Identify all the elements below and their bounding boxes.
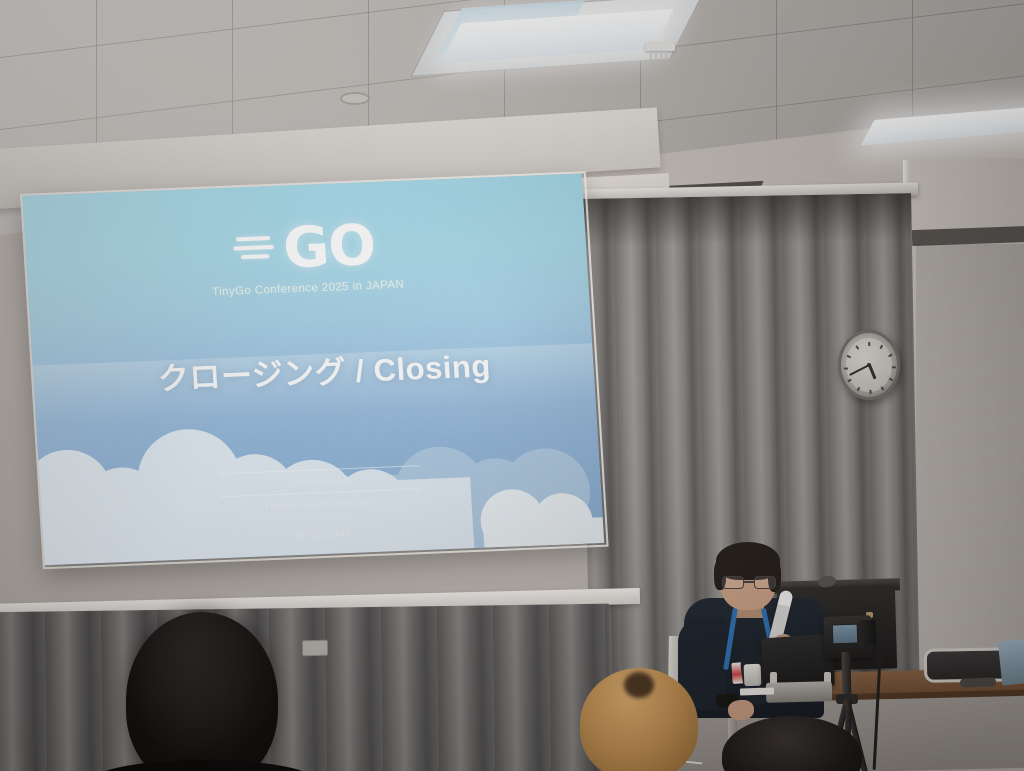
camera-lens	[858, 620, 877, 647]
clock-face	[845, 337, 893, 393]
speed-lines-icon	[236, 236, 274, 259]
laptop-stand	[766, 681, 833, 703]
slide-credit-2: All the staff	[223, 524, 424, 544]
go-wordmark: GO	[282, 219, 377, 276]
glasses-icon	[722, 576, 776, 589]
slide-title: クロージング / Closing	[32, 336, 594, 403]
wall-bracket	[302, 640, 328, 656]
slide-content: GO TinyGo Conference 2025 in JAPAN クロージン…	[22, 174, 604, 566]
desk-item	[960, 677, 996, 687]
projection-screen: GO TinyGo Conference 2025 in JAPAN クロージン…	[22, 174, 604, 566]
audience-head-blonde	[580, 668, 698, 771]
lower-curtain	[0, 604, 611, 771]
laptop-right	[998, 638, 1024, 685]
slide-meta-block: 2025/10/12 TinyGo Keeb members + All the…	[219, 461, 423, 544]
desk-paper	[740, 687, 774, 695]
right-wall-shadow	[916, 244, 1024, 674]
conference-room-photo: GO TinyGo Conference 2025 in JAPAN クロージン…	[0, 0, 1024, 771]
camera-screen	[832, 624, 859, 645]
ceiling-speaker-icon	[340, 92, 370, 105]
drink-cup	[744, 664, 762, 687]
sprinkler-icon	[645, 42, 675, 60]
